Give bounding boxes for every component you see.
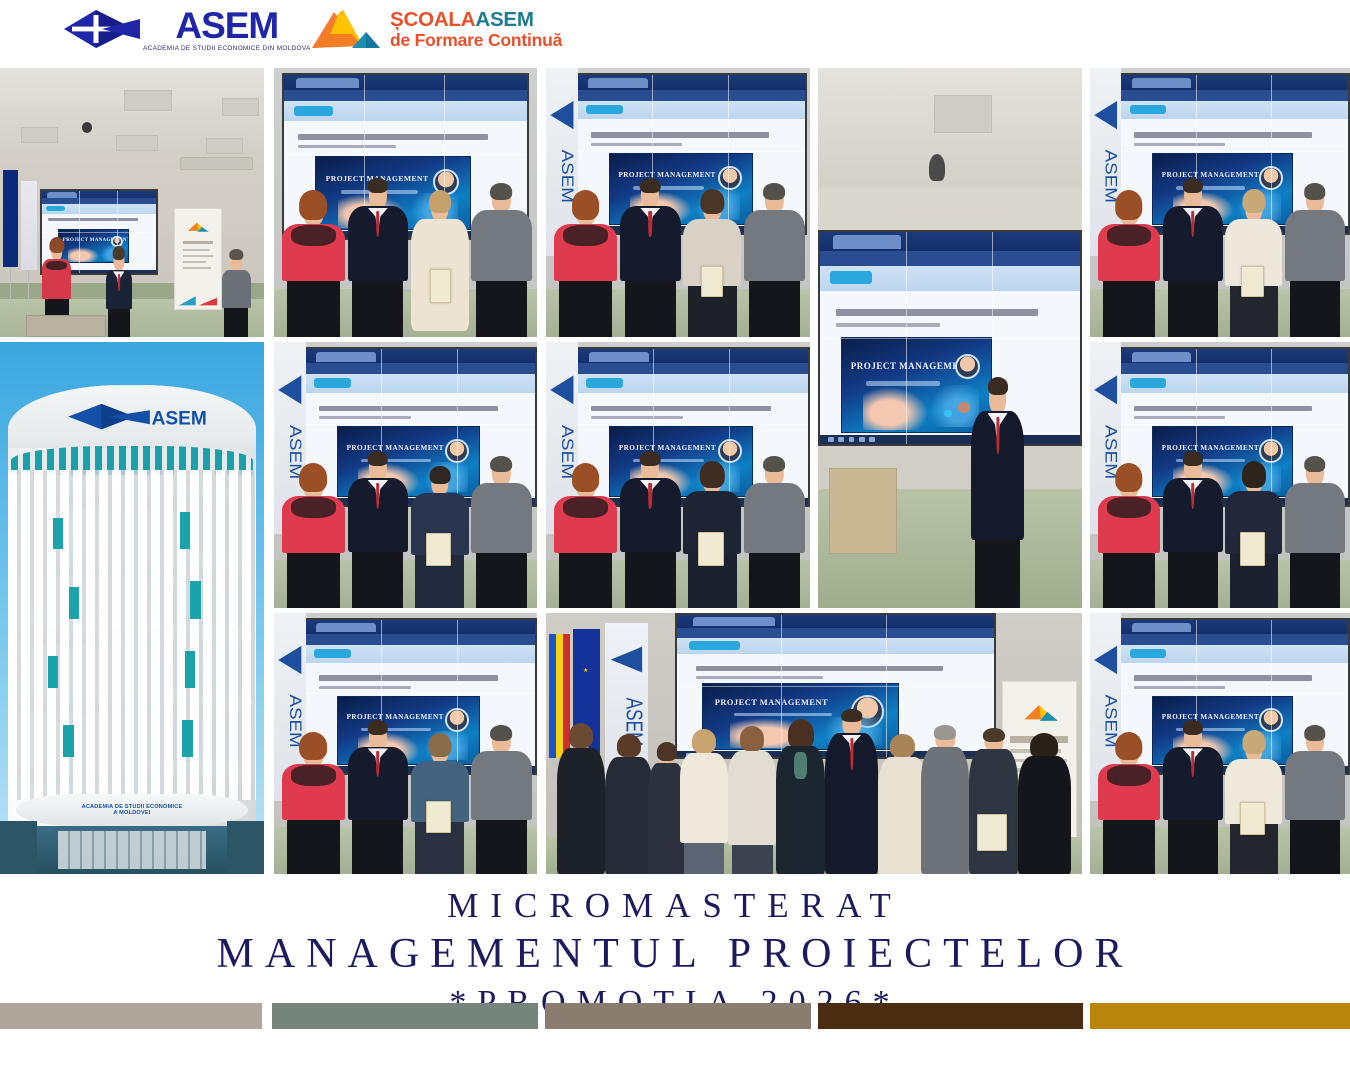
scoala-triangle-icon bbox=[310, 8, 380, 50]
scoala-asem-logo: ȘCOALAASEM de Formare Continuă bbox=[310, 8, 562, 50]
asem-diamond-icon bbox=[62, 7, 140, 51]
bar-warm-gray bbox=[545, 1003, 811, 1029]
asem-logo: ASEM ACADEMIA DE STUDII ECONOMICE DIN MO… bbox=[62, 6, 311, 52]
slide-heading: PROJECT MANAGEMENT bbox=[1162, 713, 1262, 721]
photo-presenter-tall: PROJECT MANAGEMENT bbox=[818, 68, 1082, 608]
photo-group-wide: PROJECT MANAGEMENT bbox=[546, 613, 1082, 874]
scoala-wordmark-line2: de Formare Continuă bbox=[390, 31, 562, 49]
slide-heading: PROJECT MANAGEMENT bbox=[347, 713, 448, 721]
photo-graduate-1: PROJECT MANAGEMENT bbox=[274, 68, 537, 337]
title-line-2: MANAGEMENTUL PROIECTELOR bbox=[0, 928, 1350, 980]
slide-heading: PROJECT MANAGEMENT bbox=[618, 171, 720, 179]
svg-text:ASEM: ASEM bbox=[152, 408, 207, 429]
header-logos: ASEM ACADEMIA DE STUDII ECONOMICE DIN MO… bbox=[0, 0, 1350, 62]
scoala-wordmark-line1: ȘCOALAASEM bbox=[390, 9, 562, 30]
photo-graduate-8: PROJECT MANAGEMENT ASEM bbox=[1090, 613, 1350, 874]
photo-graduate-5: PROJECT MANAGEMENT ASEM bbox=[546, 342, 810, 608]
asem-tagline: ACADEMIA DE STUDII ECONOMICE DIN MOLDOVA bbox=[143, 45, 311, 52]
photo-asem-building: ASEM bbox=[0, 342, 264, 874]
photo-classroom-wide: PROJECT MANAGEMENT bbox=[0, 68, 264, 337]
asem-wordmark: ASEM bbox=[175, 6, 278, 46]
photo-graduate-3: PROJECT MANAGEMENT ASEM bbox=[1090, 68, 1350, 337]
footer-color-bars bbox=[0, 1003, 1350, 1029]
photo-graduate-6: PROJECT MANAGEMENT ASEM bbox=[1090, 342, 1350, 608]
bar-sage bbox=[272, 1003, 538, 1029]
scoala-asem-word: ASEM bbox=[475, 8, 533, 31]
bar-gold bbox=[1090, 1003, 1350, 1029]
slide-heading: PROJECT MANAGEMENT bbox=[851, 361, 958, 371]
slide-heading: PROJECT MANAGEMENT bbox=[1162, 444, 1262, 452]
scoala-word: ȘCOALA bbox=[390, 8, 475, 31]
slide-heading: PROJECT MANAGEMENT bbox=[715, 698, 855, 707]
title-line-1: MICROMASTERAT bbox=[0, 884, 1350, 928]
slide-heading: PROJECT MANAGEMENT bbox=[1162, 171, 1262, 179]
building-sign-line2: A MOLDOVEI bbox=[113, 810, 150, 816]
slide-heading: PROJECT MANAGEMENT bbox=[619, 444, 721, 452]
photo-graduate-7: PROJECT MANAGEMENT ASEM bbox=[274, 613, 537, 874]
photo-graduate-2: PROJECT MANAGEMENT ASEM bbox=[546, 68, 810, 337]
photo-graduate-4: PROJECT MANAGEMENT ASEM bbox=[274, 342, 537, 608]
bar-dark-brown bbox=[818, 1003, 1083, 1029]
photo-collage-grid: PROJECT MANAGEMENT bbox=[0, 62, 1350, 877]
slide-heading: PROJECT MANAGEMENT bbox=[347, 444, 448, 452]
poster-canvas: ASEM ACADEMIA DE STUDII ECONOMICE DIN MO… bbox=[0, 0, 1350, 1080]
bar-taupe bbox=[0, 1003, 262, 1029]
